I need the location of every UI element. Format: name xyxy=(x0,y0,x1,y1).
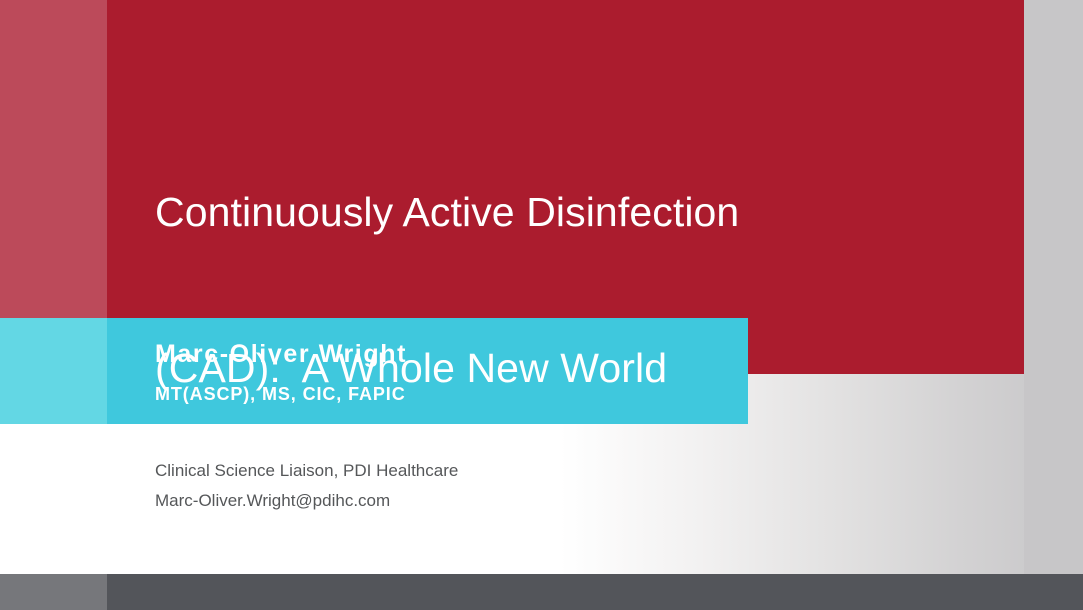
presenter-contact: Clinical Science Liaison, PDI Healthcare… xyxy=(155,456,458,516)
slide-title: Continuously Active Disinfection (CAD): … xyxy=(155,82,1005,498)
presentation-slide: Continuously Active Disinfection (CAD): … xyxy=(0,0,1083,610)
presenter-email: Marc-Oliver.Wright@pdihc.com xyxy=(155,486,458,516)
footer-bar-left-accent xyxy=(0,574,107,610)
presenter-name: Marc-Oliver Wright xyxy=(155,338,407,370)
presenter-role-organization: Clinical Science Liaison, PDI Healthcare xyxy=(155,456,458,486)
presenter-credentials: MT(ASCP), MS, CIC, FAPIC xyxy=(155,382,406,406)
presenter-band-left-accent xyxy=(0,318,107,424)
title-block-left-accent xyxy=(0,0,107,318)
slide-title-line-1: Continuously Active Disinfection xyxy=(155,186,1005,238)
footer-bar xyxy=(107,574,1083,610)
right-grey-panel xyxy=(1024,0,1083,574)
